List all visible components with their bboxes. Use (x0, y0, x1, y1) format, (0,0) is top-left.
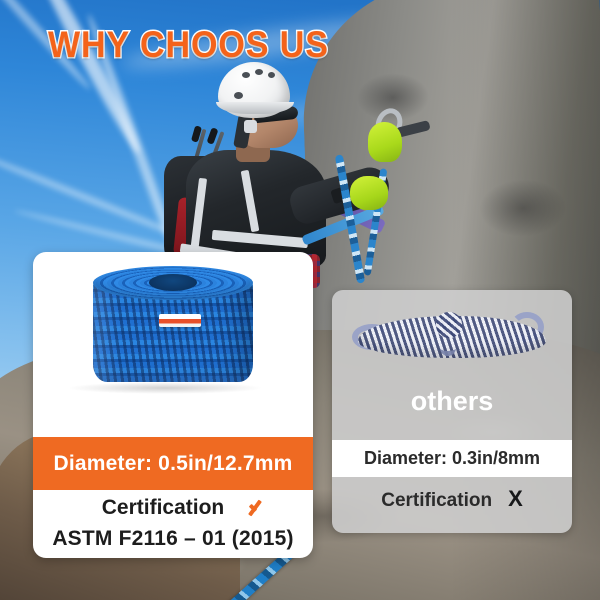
hank-tail (440, 340, 456, 356)
ours-certification-label: Certification (102, 496, 225, 520)
helmet-vent (255, 69, 263, 75)
product-shadow (67, 382, 263, 394)
ours-diameter-band: Diameter: 0.5in/12.7mm (33, 437, 313, 490)
page-title: WHY CHOOS US (48, 26, 329, 63)
helmet-vent (242, 72, 250, 78)
comparison-card-ours: OURS Diameter: 0.5in/12.7mm Certificatio… (33, 252, 313, 558)
climber-figure (150, 58, 410, 273)
ours-certification-standard: ASTM F2116 – 01 (2015) (33, 527, 313, 551)
gray-rope-hank-icon (348, 306, 556, 368)
others-diameter-band: Diameter: 0.3in/8mm (332, 440, 572, 477)
infographic-canvas: WHY CHOOS US OURS Diameter: 0.5in/12.7mm… (0, 0, 600, 600)
hank-knot (436, 312, 462, 338)
comparison-card-others: others Diameter: 0.3in/8mm Certification… (332, 290, 572, 533)
strap-buckle (244, 120, 257, 133)
green-glove (350, 176, 388, 210)
others-title: others (332, 386, 572, 417)
ours-certification-row: Certification (33, 496, 313, 520)
ours-product-image (33, 258, 313, 398)
product-label-tag (159, 314, 201, 327)
helmet-vent (234, 92, 243, 99)
others-product-image (332, 294, 572, 390)
x-mark-icon: X (508, 486, 523, 511)
helmet-vent (268, 72, 275, 78)
check-icon (246, 497, 268, 519)
others-certification-row: CertificationX (332, 486, 572, 512)
others-diameter-label: Diameter: 0.3in/8mm (364, 448, 540, 469)
green-glove (368, 122, 402, 162)
blue-rope-coil-icon (93, 266, 253, 390)
ours-diameter-label: Diameter: 0.5in/12.7mm (53, 452, 292, 476)
others-certification-label: Certification (381, 490, 492, 511)
ours-certification-block: Certification ASTM F2116 – 01 (2015) (33, 496, 313, 551)
coil-center-hole (149, 274, 197, 291)
